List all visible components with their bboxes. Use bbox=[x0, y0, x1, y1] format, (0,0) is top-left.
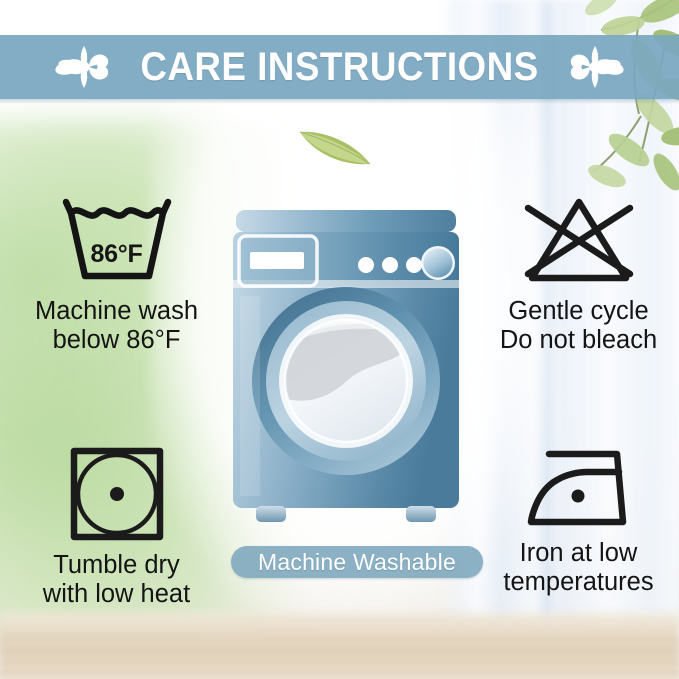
caption-line-1: Tumble dry bbox=[53, 551, 180, 579]
caption-line-1: Machine wash bbox=[35, 297, 198, 325]
washing-machine-illustration bbox=[230, 210, 462, 528]
caption-line-2: below 86°F bbox=[53, 326, 181, 354]
wash-temperature-value: 86°F bbox=[58, 240, 176, 269]
fleur-de-lis-ornament-icon bbox=[564, 40, 624, 94]
tumble-dry-one-dot-icon bbox=[69, 446, 165, 542]
green-leaf-icon bbox=[296, 122, 374, 170]
wash-tub-icon-wrap: 86°F bbox=[58, 196, 176, 288]
iron-one-dot-icon bbox=[521, 446, 637, 530]
care-instructions-infographic: CARE INSTRUCTIONS bbox=[0, 0, 679, 679]
caption-line-1: Iron at low bbox=[520, 539, 638, 567]
machine-washable-badge: Machine Washable bbox=[231, 546, 483, 578]
symbol-iron-low: Iron at low temperatures bbox=[476, 446, 679, 597]
caption-line-2: temperatures bbox=[503, 568, 653, 596]
symbol-caption: Iron at low temperatures bbox=[503, 539, 653, 597]
caption-line-1: Gentle cycle bbox=[508, 297, 648, 325]
banner-drop-shadow bbox=[0, 99, 679, 104]
header-banner: CARE INSTRUCTIONS bbox=[0, 35, 679, 99]
triangle-crossed-out-icon bbox=[522, 196, 636, 288]
fleur-de-lis-ornament-icon bbox=[55, 40, 115, 94]
caption-line-2: with low heat bbox=[43, 580, 190, 608]
symbol-caption: Tumble dry with low heat bbox=[43, 551, 190, 609]
badge-label: Machine Washable bbox=[258, 549, 456, 576]
symbol-machine-wash: 86°F Machine wash below 86°F bbox=[14, 196, 219, 355]
background-table-grain bbox=[0, 631, 679, 675]
symbol-do-not-bleach: Gentle cycle Do not bleach bbox=[476, 196, 679, 355]
symbol-caption: Gentle cycle Do not bleach bbox=[500, 297, 657, 355]
caption-line-2: Do not bleach bbox=[500, 326, 657, 354]
page-title: CARE INSTRUCTIONS bbox=[140, 45, 538, 90]
symbol-caption: Machine wash below 86°F bbox=[35, 297, 198, 355]
symbol-tumble-dry: Tumble dry with low heat bbox=[14, 446, 219, 609]
